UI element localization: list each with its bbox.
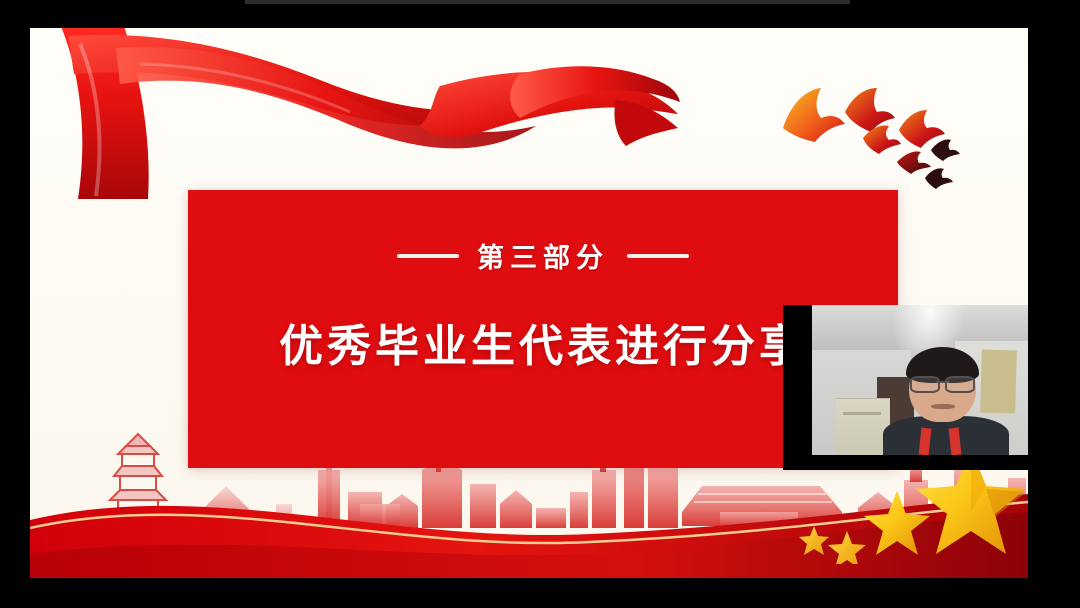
screen-share-stage: 第三部分 优秀毕业生代表进行分享	[0, 0, 1080, 608]
room-cabinet	[836, 398, 890, 455]
red-silk-ribbon-decoration	[30, 28, 680, 199]
participant-video-tile[interactable]	[783, 305, 1028, 470]
eyeglasses-icon	[910, 376, 975, 390]
wall-poster	[980, 350, 1016, 414]
section-heading-row: 第三部分	[188, 236, 898, 275]
glasses-lens-right	[945, 376, 975, 394]
section-dash-left-icon	[397, 254, 459, 258]
section-label: 第三部分	[477, 236, 609, 275]
section-dash-right-icon	[627, 254, 689, 258]
bottom-letterbox	[0, 578, 1080, 608]
webcam-video-feed	[812, 305, 1028, 455]
flying-birds-icon	[765, 68, 975, 198]
person-mouth	[931, 404, 955, 409]
top-edge-strip	[245, 0, 850, 4]
glasses-lens-left	[910, 376, 940, 394]
presentation-slide: 第三部分 优秀毕业生代表进行分享	[30, 28, 1028, 578]
